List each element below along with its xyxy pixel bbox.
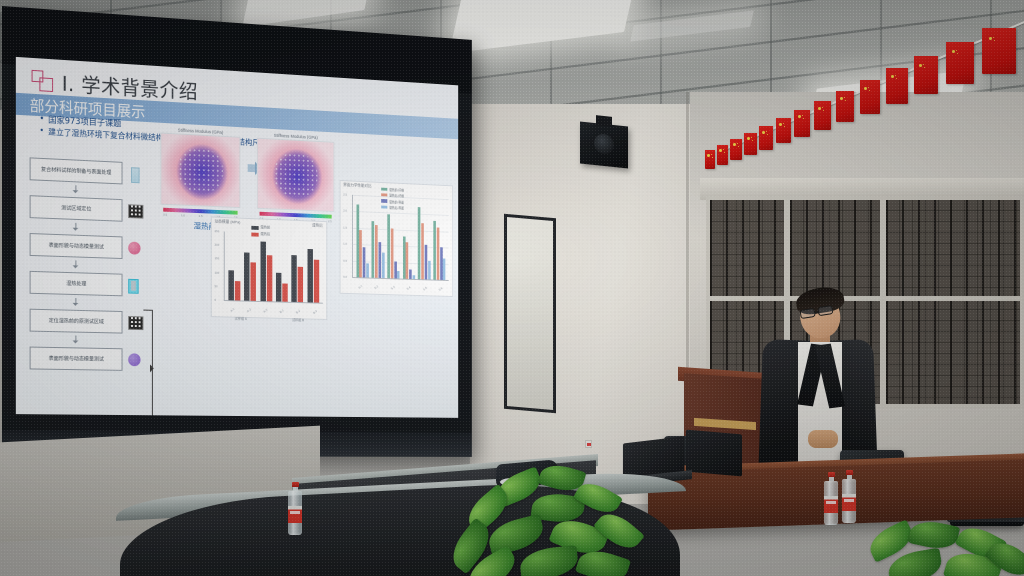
potted-plant xyxy=(436,460,656,576)
legend-item: 湿热后-纤维 xyxy=(381,193,404,199)
china-flag-icon xyxy=(946,42,974,84)
bar xyxy=(292,255,297,302)
legend-label: 湿热后 xyxy=(260,232,270,237)
legend-swatch xyxy=(251,232,258,236)
legend-swatch xyxy=(381,187,387,190)
bar xyxy=(418,207,421,279)
pink-dot-icon xyxy=(128,241,143,258)
plot-area: 250 200 150 100 50 0 xyxy=(224,231,323,303)
purple-dot-icon xyxy=(128,353,143,370)
bar xyxy=(433,221,436,280)
flow-step: 测试区域定位 xyxy=(30,195,123,222)
china-flag-icon xyxy=(776,118,791,143)
legend-item: 湿热后 xyxy=(251,232,270,238)
legend-swatch xyxy=(251,225,258,229)
y-tick: 2.5 xyxy=(343,193,347,197)
section-labels: 试样组 A 试样组 B xyxy=(212,315,327,323)
bar xyxy=(436,227,439,280)
bar-group xyxy=(260,233,272,301)
bar xyxy=(409,269,412,279)
bar xyxy=(314,259,319,302)
flow-arrow-icon xyxy=(30,259,123,271)
bar xyxy=(235,281,241,301)
bar xyxy=(397,271,400,278)
specimen-rect-icon xyxy=(128,167,143,184)
bar-groups xyxy=(225,232,323,303)
china-flag-icon xyxy=(717,145,728,165)
microstructure-image xyxy=(160,133,240,209)
china-flag-icon xyxy=(814,101,831,130)
y-tick: 1.0 xyxy=(343,242,347,246)
transition-arrow-icon xyxy=(248,160,250,175)
y-tick: 0.0 xyxy=(343,275,347,279)
bar xyxy=(391,229,394,279)
bar xyxy=(421,223,424,279)
flow-step: 复合材料试样的制备与表面处理 xyxy=(30,157,123,184)
y-tick: 0 xyxy=(215,298,217,302)
y-tick: 1.5 xyxy=(343,225,347,229)
tick-label: 1.0 xyxy=(181,213,185,217)
bar xyxy=(276,273,281,302)
water-bottle[interactable] xyxy=(288,482,302,535)
section-label: 试样组 A xyxy=(235,316,247,321)
legend-label: 湿热前-纤维 xyxy=(389,187,404,192)
tick-label: 1.5 xyxy=(199,214,203,218)
legend-label: 湿热后-界面 xyxy=(389,205,404,210)
flow-step: 湿热处理 xyxy=(30,271,123,296)
china-flag-icon xyxy=(705,150,715,169)
bar-group xyxy=(356,195,369,278)
flow-step: 表面形貌与动态模量测试 xyxy=(30,233,123,259)
qr-pattern-icon xyxy=(128,316,143,333)
tick-label: 0.5 xyxy=(163,213,167,217)
secondary-bar-chart: 动态模量 (MPa) 湿热后 250 200 150 100 50 0 湿热前湿… xyxy=(211,216,327,319)
x-tick: S-6 xyxy=(438,286,443,292)
bar xyxy=(443,259,446,280)
laptop[interactable] xyxy=(686,430,742,477)
two-squares-logo-icon xyxy=(32,69,55,92)
bar-group xyxy=(244,232,256,301)
bar-group xyxy=(403,197,415,279)
microstructure-image xyxy=(257,138,335,212)
legend-label: 湿热前 xyxy=(260,225,270,230)
water-bottle[interactable] xyxy=(842,470,856,523)
x-tick: B-1 xyxy=(279,308,285,314)
bar xyxy=(440,247,443,280)
x-tick: S-4 xyxy=(406,285,411,291)
x-axis-labels: S-1S-2S-3S-4S-5S-6 xyxy=(352,285,449,292)
flag-banner xyxy=(690,0,1024,200)
y-tick: 2.0 xyxy=(343,209,347,213)
chart-title: 动态模量 (MPa) xyxy=(215,219,241,226)
china-flag-icon xyxy=(744,133,757,155)
flow-step: 定位湿热前的原测试区域 xyxy=(30,309,123,334)
y-tick: 50 xyxy=(215,284,218,288)
x-tick: B-2 xyxy=(296,309,302,315)
x-tick: A-1 xyxy=(229,307,235,313)
bar xyxy=(366,264,369,278)
wall-socket xyxy=(585,440,592,448)
bar xyxy=(425,245,428,279)
bar xyxy=(356,205,359,277)
conference-room-scene: I. 学术背景介绍 部分科研项目展示 国家973项目子课题 建立了湿热环境下复合… xyxy=(0,0,1024,576)
clasped-hands xyxy=(808,430,838,448)
flow-arrow-icon xyxy=(30,335,123,346)
china-flag-icon xyxy=(860,80,880,114)
legend-swatch xyxy=(381,193,387,196)
bar xyxy=(363,247,366,277)
legend-swatch xyxy=(381,199,387,202)
bar xyxy=(378,243,381,278)
bar xyxy=(244,253,249,301)
bar xyxy=(298,266,303,302)
legend-item: 湿热后-界面 xyxy=(381,204,404,210)
y-tick: 150 xyxy=(215,257,220,261)
flow-arrow-icon xyxy=(30,297,123,308)
bar-group xyxy=(433,198,445,280)
bar xyxy=(428,261,431,280)
bar-group xyxy=(418,198,430,280)
legend-item: 湿热前-界面 xyxy=(381,199,404,205)
chart-legend: 湿热前湿热后 xyxy=(251,225,270,239)
comparison-brace-icon xyxy=(143,310,152,418)
speaker-mount-bracket xyxy=(596,115,612,127)
qr-pattern-icon xyxy=(128,204,143,221)
bar xyxy=(375,225,378,278)
x-tick: A-3 xyxy=(263,308,269,314)
chart-panel-label: 湿热后 xyxy=(312,222,323,228)
bar-group xyxy=(229,232,241,301)
bar xyxy=(382,252,385,278)
bar xyxy=(387,214,390,278)
legend-swatch xyxy=(381,205,387,208)
whiteboard xyxy=(504,214,556,414)
chart-title: 界面力学性能对比 xyxy=(343,182,371,189)
x-tick: B-3 xyxy=(312,309,318,315)
bar xyxy=(307,249,312,302)
section-label: 试样组 B xyxy=(292,317,304,322)
legend-item: 湿热前-纤维 xyxy=(381,187,404,193)
china-flag-icon xyxy=(836,91,854,122)
bar xyxy=(360,230,363,278)
presentation-slide: I. 学术背景介绍 部分科研项目展示 国家973项目子课题 建立了湿热环境下复合… xyxy=(16,57,458,418)
x-tick: S-3 xyxy=(390,285,395,291)
x-tick: S-2 xyxy=(374,284,379,290)
cyan-specimen-icon xyxy=(128,278,143,295)
legend-item: 湿热前 xyxy=(251,225,270,231)
china-flag-icon xyxy=(759,126,773,150)
bar-group xyxy=(307,235,319,303)
bar xyxy=(229,271,235,301)
bar xyxy=(282,283,287,302)
tick-label: 2.5 xyxy=(328,219,332,223)
bar xyxy=(251,262,256,301)
china-flag-icon xyxy=(794,110,810,137)
tomography-panel: Stiffness Modulus (GPa) 0.5 1.0 1.5 2.0 … xyxy=(257,132,335,223)
bar xyxy=(372,221,375,277)
y-tick: 100 xyxy=(215,270,220,274)
china-flag-icon xyxy=(886,68,908,104)
water-bottle[interactable] xyxy=(824,472,838,525)
china-flag-icon xyxy=(914,56,938,94)
y-tick: 200 xyxy=(215,243,220,247)
chart-legend: 湿热前-纤维湿热后-纤维湿热前-界面湿热后-界面 xyxy=(381,187,404,212)
x-tick: A-2 xyxy=(246,307,252,313)
x-tick: S-1 xyxy=(358,284,363,290)
legend-label: 湿热后-纤维 xyxy=(389,193,404,198)
bar xyxy=(406,242,409,279)
wall-speaker-icon xyxy=(580,121,628,168)
y-tick: 250 xyxy=(215,229,220,233)
bar xyxy=(267,255,272,301)
x-axis-labels: A-1A-2A-3B-1B-2B-3 xyxy=(224,308,323,314)
potted-plant xyxy=(862,518,1024,576)
projection-screen[interactable]: I. 学术背景介绍 部分科研项目展示 国家973项目子课题 建立了湿热环境下复合… xyxy=(2,6,472,457)
bar xyxy=(260,242,265,302)
y-tick: 0.5 xyxy=(343,258,347,262)
main-grouped-bar-chart: 界面力学性能对比 2.5 2.0 1.5 1.0 0.5 0.0 湿热前-纤维湿… xyxy=(340,180,453,297)
legend-label: 湿热前-界面 xyxy=(389,199,404,204)
flow-step: 表面形貌与动态模量测试 xyxy=(30,347,123,371)
bar-group xyxy=(292,234,304,302)
bar xyxy=(413,275,416,279)
bar xyxy=(403,237,406,279)
tomography-panel: Stiffness Modulus (GPa) 0.5 1.0 1.5 2.0 … xyxy=(160,127,240,220)
bar xyxy=(394,261,397,278)
experiment-flow-chart: 复合材料试样的制备与表面处理 测试区域定位 表面形貌与动态模量测试 湿热处理 xyxy=(30,157,153,374)
x-tick: S-5 xyxy=(422,286,427,292)
china-flag-icon xyxy=(982,28,1016,74)
china-flag-icon xyxy=(730,139,742,160)
bar-group xyxy=(276,233,288,301)
